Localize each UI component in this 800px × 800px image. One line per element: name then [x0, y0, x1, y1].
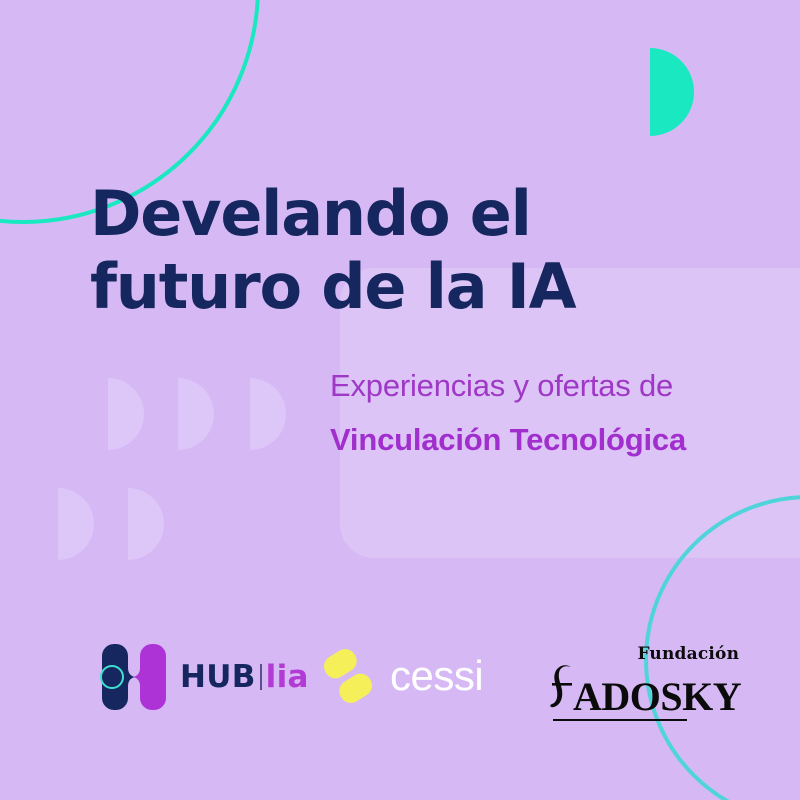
hublia-divider	[260, 664, 262, 690]
sadosky-underline	[553, 719, 687, 721]
hublia-text-lia: lia	[266, 659, 309, 695]
logo-hublia: HUB lia	[98, 644, 309, 710]
subtitle-line-2: Vinculación Tecnológica	[330, 422, 750, 458]
teal-half-disc-icon	[650, 48, 694, 136]
pale-half-disc-icon-3	[250, 378, 286, 450]
pale-half-disc-icon-4	[58, 488, 94, 560]
pale-half-disc-icon-1	[108, 378, 144, 450]
logo-cessi: cessi	[322, 648, 483, 704]
poster-canvas: Develando el futuro de la IA Experiencia…	[0, 0, 800, 800]
subtitle-block: Experiencias y ofertas de Vinculación Te…	[330, 368, 750, 457]
sadosky-text-fundacion: Fundación	[549, 646, 741, 663]
logo-sadosky: Fundación ADOSKY	[549, 646, 741, 717]
hublia-text-hub: HUB	[180, 659, 256, 695]
hublia-mark-icon	[98, 644, 170, 710]
sadosky-wordmark: ADOSKY	[549, 664, 741, 717]
cessi-wordmark: cessi	[390, 655, 483, 697]
pale-half-disc-icon-5	[128, 488, 164, 560]
page-title: Develando el futuro de la IA	[90, 178, 730, 323]
pale-half-disc-icon-2	[178, 378, 214, 450]
logo-strip: HUB lia cessi Fundación	[0, 636, 800, 722]
sadosky-swash-s-icon	[549, 664, 575, 710]
cessi-mark-icon	[322, 648, 374, 704]
sadosky-text-adosky: ADOSKY	[573, 677, 741, 717]
subtitle-line-1: Experiencias y ofertas de	[330, 368, 750, 404]
hublia-wordmark: HUB lia	[180, 659, 309, 695]
